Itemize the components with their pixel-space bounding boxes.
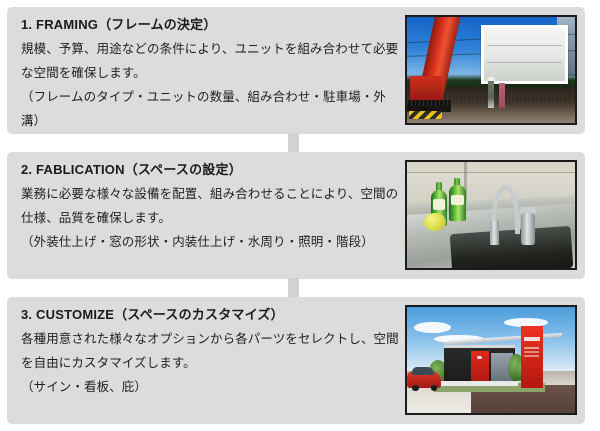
- step-panel-1: 1. FRAMING（フレームの決定） 規模、予算、用途などの条件により、ユニッ…: [7, 7, 585, 134]
- step-2-line-1: 業務に必要な様々な設備を配置、組み合わせることにより、空間の: [21, 182, 401, 206]
- connector-step2-to-step3: [288, 278, 299, 298]
- lemon: [424, 213, 446, 231]
- red-sign-pylon: [521, 326, 543, 387]
- step-2-title: 2. FABLICATION（スペースの設定）: [21, 158, 401, 182]
- car-wheel-rear: [431, 385, 438, 390]
- car-windshield: [412, 367, 434, 374]
- worker-figure-2: [499, 83, 505, 108]
- step-3-title: 3. CUSTOMIZE（スペースのカスタマイズ）: [21, 303, 401, 327]
- hazard-stripe-marker: [409, 111, 443, 118]
- faucet-handle: [521, 213, 534, 245]
- step-3-line-2: を自由にカスタマイズします。: [21, 351, 401, 375]
- pylon-text-lines: [524, 347, 538, 349]
- step-3-line-3: （サイン・看板、庇）: [21, 375, 401, 399]
- white-building-unit: [481, 25, 568, 83]
- car-wheel-front: [412, 385, 419, 390]
- step-1-line-3: （フレームのタイプ・ユニットの数量、組み合わせ・駐車場・外: [21, 85, 401, 109]
- faucet-base: [490, 221, 498, 244]
- step-1-line-4: 溝）: [21, 109, 401, 133]
- connector-step1-to-step2: [288, 133, 299, 153]
- step-panel-2: 2. FABLICATION（スペースの設定） 業務に必要な様々な設備を配置、組…: [7, 152, 585, 279]
- step-1-text-block: 1. FRAMING（フレームの決定） 規模、予算、用途などの条件により、ユニッ…: [21, 13, 401, 133]
- step-2-text-block: 2. FABLICATION（スペースの設定） 業務に必要な様々な設備を配置、組…: [21, 158, 401, 254]
- step-3-text-block: 3. CUSTOMIZE（スペースのカスタマイズ） 各種用意された様々なオプショ…: [21, 303, 401, 399]
- step-1-line-2: な空間を確保します。: [21, 61, 401, 85]
- step-panel-3: 3. CUSTOMIZE（スペースのカスタマイズ） 各種用意された様々なオプショ…: [7, 297, 585, 424]
- green-bottle-2: [449, 185, 466, 221]
- process-flow-diagram: 1. FRAMING（フレームの決定） 規模、予算、用途などの条件により、ユニッ…: [0, 0, 600, 431]
- shop-deck: [441, 381, 518, 386]
- crane-lifting-unit-photo: [405, 15, 577, 125]
- step-3-line-1: 各種用意された様々なオプションから各パーツをセレクトし、空間: [21, 327, 401, 351]
- worker-figure-1: [488, 81, 495, 109]
- step-2-line-2: 仕様、品質を確保します。: [21, 206, 401, 230]
- step-1-title: 1. FRAMING（フレームの決定）: [21, 13, 401, 37]
- step-2-line-3: （外装仕上げ・窓の形状・内装仕上げ・水周り・照明・階段）: [21, 230, 401, 254]
- wall-upper-band: [407, 162, 575, 173]
- kitchen-sink-photo: [405, 160, 577, 270]
- shop-building: [444, 345, 515, 386]
- pylon-logo-band: [524, 337, 541, 341]
- step-1-line-1: 規模、予算、用途などの条件により、ユニットを組み合わせて必要: [21, 37, 401, 61]
- customized-shop-rendering: [405, 305, 577, 415]
